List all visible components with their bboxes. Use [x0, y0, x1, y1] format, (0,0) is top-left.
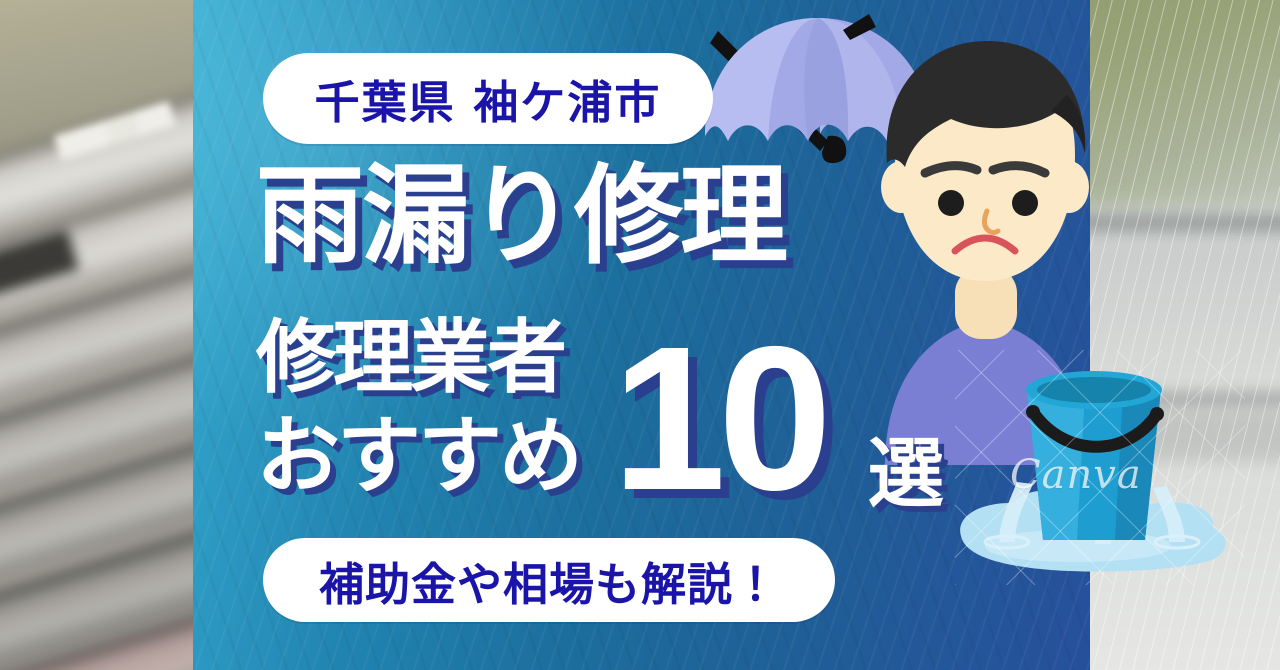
- region-badge: 千葉県 袖ケ浦市: [263, 53, 713, 144]
- count-suffix: 選: [868, 436, 944, 512]
- roof-shingles-photo: [0, 0, 200, 670]
- page-title: 雨漏り修理: [256, 163, 786, 271]
- banner-canvas: Canva 千葉県 袖ケ浦市 雨漏り修理 修理業者 おすすめ 10 選 補助金や…: [0, 0, 1280, 670]
- subtitle-line-2: おすすめ: [256, 414, 580, 498]
- subtitle-line-1: 修理業者: [256, 318, 564, 398]
- footer-badge: 補助金や相場も解説！: [263, 538, 835, 622]
- bucket-icon: [955, 350, 1245, 585]
- count-number: 10: [612, 316, 824, 521]
